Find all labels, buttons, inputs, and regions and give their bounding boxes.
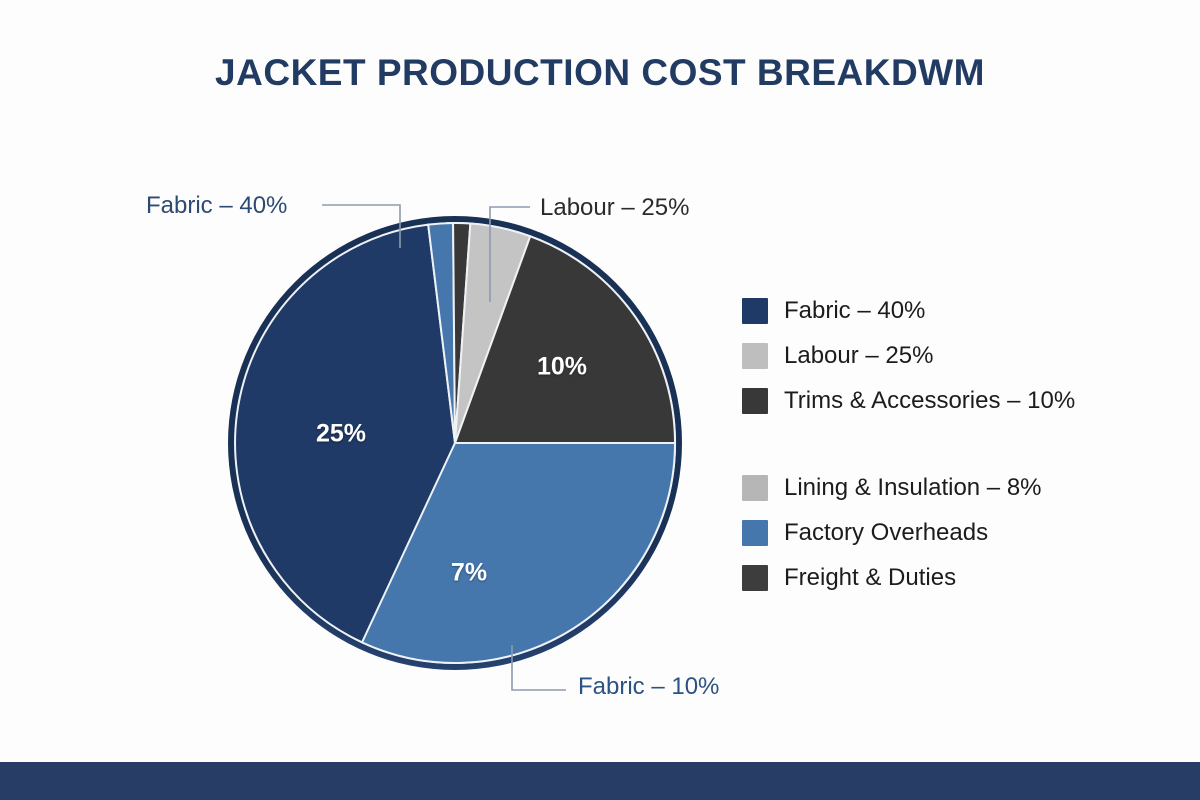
legend-swatch-icon	[742, 565, 768, 591]
legend-item-label: Freight & Duties	[784, 566, 956, 590]
legend-item-fabric[interactable]: Fabric – 40%	[742, 288, 1172, 333]
legend-gap	[742, 423, 1172, 465]
legend-item-label: Trims & Accessories – 10%	[784, 389, 1075, 413]
legend-swatch-icon	[742, 298, 768, 324]
legend-item-label: Fabric – 40%	[784, 299, 925, 323]
callout-label-fabric-10: Fabric – 10%	[578, 673, 719, 701]
legend-item-trims-accessories[interactable]: Trims & Accessories – 10%	[742, 378, 1172, 423]
slide-canvas: JACKET PRODUCTION COST BREAKDWM 25% 10% …	[0, 0, 1200, 800]
pie-slice-group	[235, 223, 675, 663]
legend-item-lining-insulation[interactable]: Lining & Insulation – 8%	[742, 465, 1172, 510]
legend-swatch-icon	[742, 520, 768, 546]
legend-item-label: Labour – 25%	[784, 344, 933, 368]
legend-item-label: Factory Overheads	[784, 521, 988, 545]
legend-swatch-icon	[742, 388, 768, 414]
callout-label-fabric-40: Fabric – 40%	[146, 192, 287, 220]
legend-swatch-icon	[742, 343, 768, 369]
callout-label-labour-25: Labour – 25%	[540, 194, 689, 222]
legend-item-label: Lining & Insulation – 8%	[784, 476, 1042, 500]
chart-legend: Fabric – 40% Labour – 25% Trims & Access…	[742, 288, 1172, 600]
legend-item-factory-overheads[interactable]: Factory Overheads	[742, 510, 1172, 555]
legend-item-labour[interactable]: Labour – 25%	[742, 333, 1172, 378]
footer-bar	[0, 762, 1200, 800]
legend-swatch-icon	[742, 475, 768, 501]
legend-item-freight-duties[interactable]: Freight & Duties	[742, 555, 1172, 600]
